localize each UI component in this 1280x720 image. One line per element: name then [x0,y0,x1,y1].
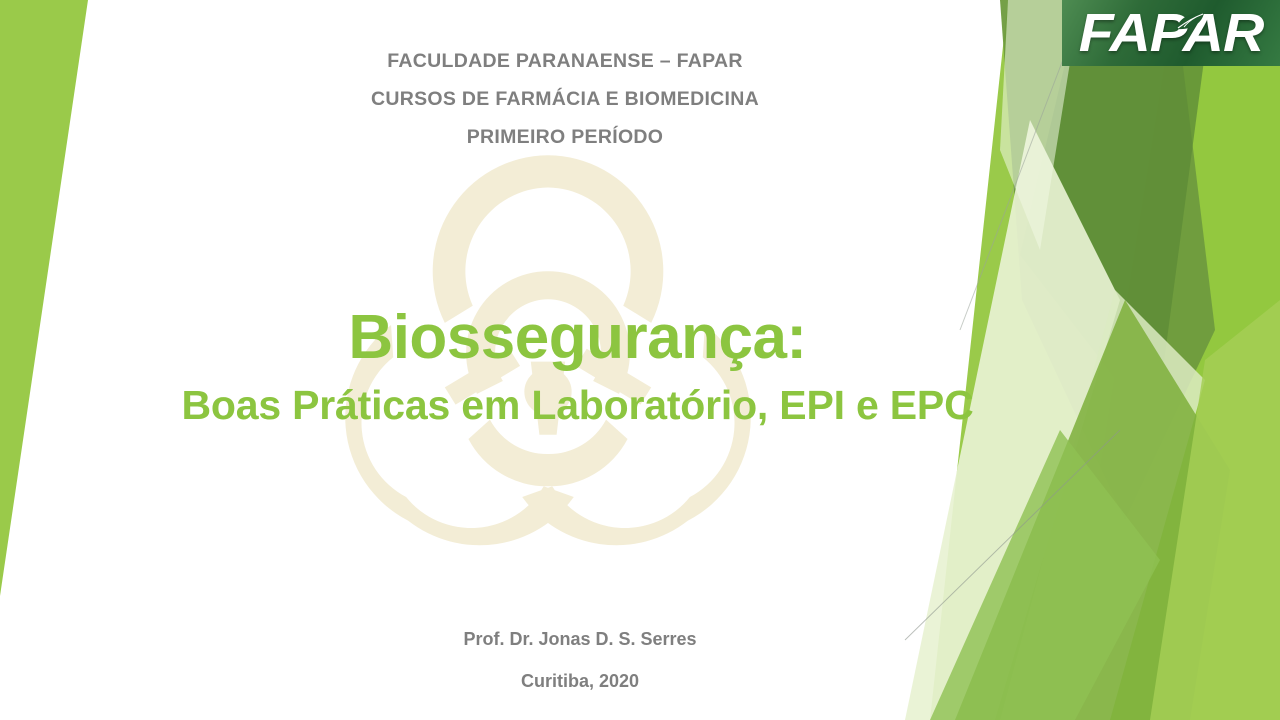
presentation-slide: FAPAR FACULDADE PARANAENSE – FAPAR CURSO… [0,0,1280,720]
header-line-period: PRIMEIRO PERÍODO [0,118,1130,156]
footer-text-block: Prof. Dr. Jonas D. S. Serres Curitiba, 2… [0,618,1160,702]
deco-hairline-lower [905,430,1120,640]
header-line-institution: FACULDADE PARANAENSE – FAPAR [0,42,1130,80]
slide-title: Biossegurança: [0,300,1155,376]
header-text-block: FACULDADE PARANAENSE – FAPAR CURSOS DE F… [0,42,1130,156]
title-block: Biossegurança: Boas Práticas em Laborató… [0,300,1155,434]
footer-author: Prof. Dr. Jonas D. S. Serres [0,618,1160,660]
footer-place-year: Curitiba, 2020 [0,660,1160,702]
deco-right-wash [1150,300,1280,720]
header-line-courses: CURSOS DE FARMÁCIA E BIOMEDICINA [0,80,1130,118]
slide-subtitle: Boas Práticas em Laboratório, EPI e EPC [0,376,1155,434]
